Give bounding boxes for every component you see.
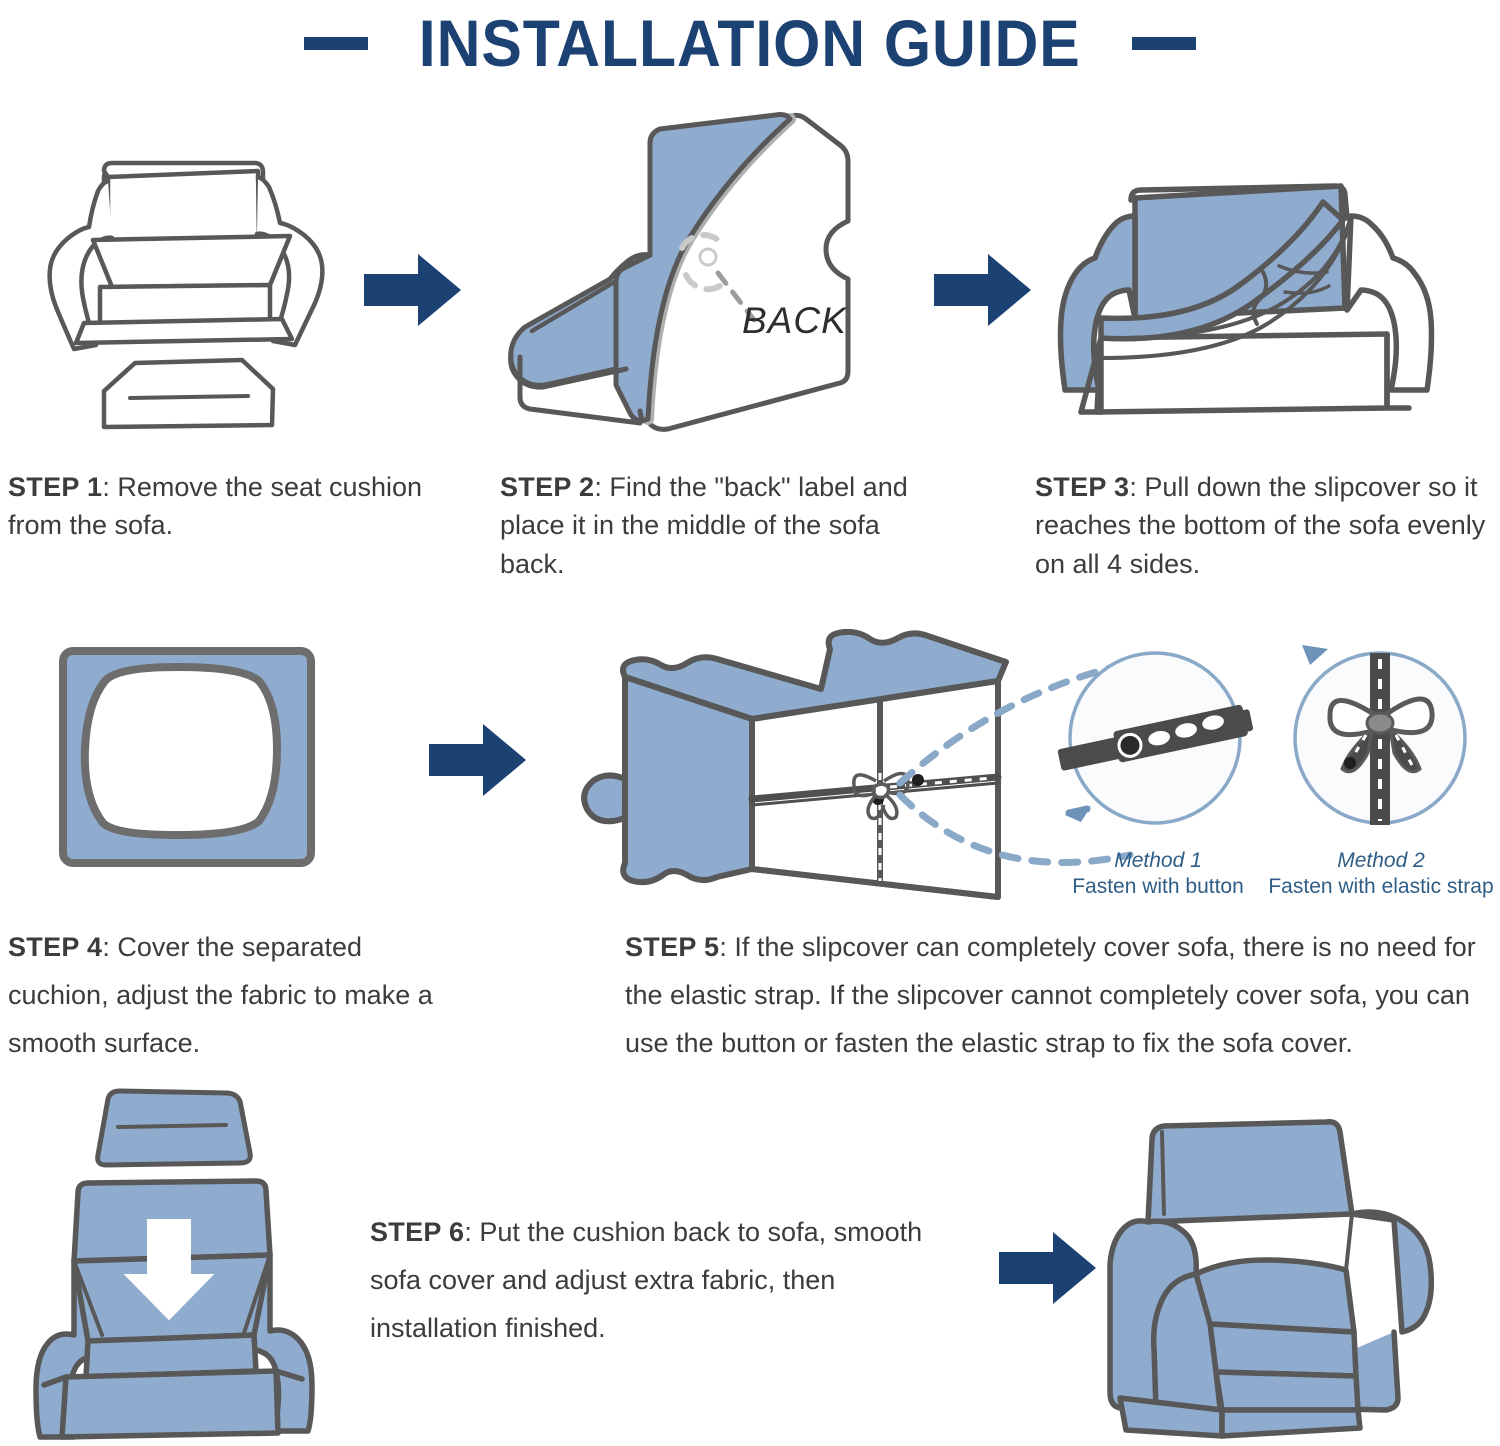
page-title-bar: INSTALLATION GUIDE xyxy=(0,0,1500,86)
step-1-text: STEP 1: Remove the seat cushion from the… xyxy=(8,468,428,545)
step-2-illustration: BACK xyxy=(490,105,890,435)
page-title: INSTALLATION GUIDE xyxy=(419,10,1081,76)
method-1-subtitle: Fasten with button xyxy=(1038,874,1278,900)
step-6-text: STEP 6: Put the cushion back to sofa, sm… xyxy=(370,1208,970,1352)
step-3-separator: : xyxy=(1129,472,1137,502)
step-5-separator: : xyxy=(719,932,727,962)
step-2-label: STEP 2 xyxy=(500,472,594,502)
step-2-separator: : xyxy=(594,472,602,502)
method-2-detail xyxy=(1288,643,1478,843)
step-4-illustration xyxy=(55,625,355,890)
title-dash-left xyxy=(304,37,368,50)
method-2-subtitle: Fasten with elastic strap xyxy=(1262,874,1500,900)
step-6-separator: : xyxy=(464,1217,472,1247)
step-4-text: STEP 4: Cover the separated cuchion, adj… xyxy=(8,923,448,1067)
step-6-label: STEP 6 xyxy=(370,1217,464,1247)
step-2-text: STEP 2: Find the "back" label and place … xyxy=(500,468,930,583)
method-1-detail xyxy=(1063,643,1253,843)
title-dash-right xyxy=(1132,37,1196,50)
step-5-label: STEP 5 xyxy=(625,932,719,962)
step-3-text: STEP 3: Pull down the slipcover so it re… xyxy=(1035,468,1490,583)
step-4-separator: : xyxy=(102,932,110,962)
step-1-label: STEP 1 xyxy=(8,472,102,502)
step-3-illustration xyxy=(1035,120,1475,430)
step-5-body: If the slipcover can completely cover so… xyxy=(625,932,1476,1058)
step-3-label: STEP 3 xyxy=(1035,472,1129,502)
arrow-step6-to-result xyxy=(995,1228,1100,1308)
step-5-illustration xyxy=(580,605,1050,905)
step-5-text: STEP 5: If the slipcover can completely … xyxy=(625,923,1493,1067)
method-2-caption: Method 2 Fasten with elastic strap xyxy=(1262,848,1500,901)
method-1-title: Method 1 xyxy=(1038,848,1278,874)
svg-text:BACK: BACK xyxy=(742,300,848,341)
step-1-illustration xyxy=(20,105,365,435)
method-1-caption: Method 1 Fasten with button xyxy=(1038,848,1278,901)
step-6-illustration xyxy=(30,1085,370,1440)
result-illustration xyxy=(1090,1110,1490,1440)
method-2-title: Method 2 xyxy=(1262,848,1500,874)
arrow-step4-to-step5 xyxy=(425,720,530,800)
arrow-step1-to-step2 xyxy=(360,250,465,330)
step-1-separator: : xyxy=(102,472,110,502)
step-4-label: STEP 4 xyxy=(8,932,102,962)
arrow-step2-to-step3 xyxy=(930,250,1035,330)
